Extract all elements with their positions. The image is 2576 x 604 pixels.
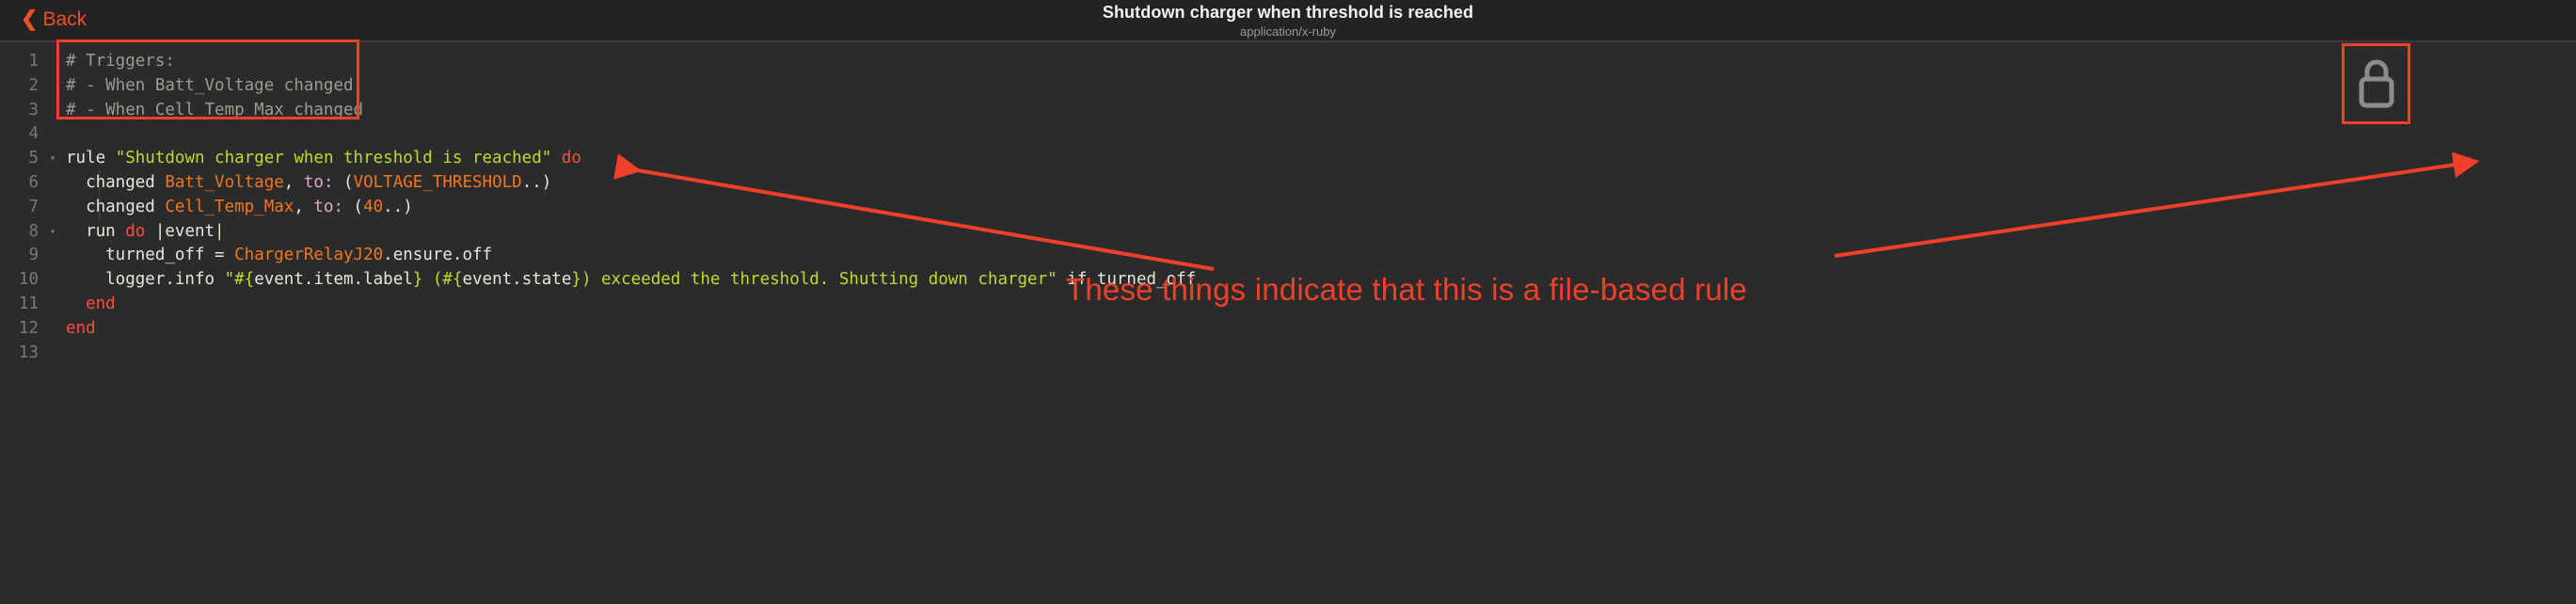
- token-kw: do: [125, 222, 145, 241]
- fold-toggle-icon[interactable]: ▾: [45, 220, 60, 245]
- code-line[interactable]: 12end: [0, 317, 2576, 342]
- token-string: (: [422, 270, 442, 289]
- code-line[interactable]: 13: [0, 342, 2576, 366]
- fold-toggle-icon[interactable]: ▾: [45, 147, 60, 171]
- token-interp: #{: [234, 270, 254, 289]
- token-const: ChargerRelayJ20: [234, 246, 383, 264]
- line-number: 8: [0, 220, 45, 245]
- code-line[interactable]: 6 changed Batt_Voltage, to: (VOLTAGE_THR…: [0, 171, 2576, 196]
- line-number: 11: [0, 293, 45, 317]
- code-line-text: changed Batt_Voltage, to: (VOLTAGE_THRES…: [66, 171, 551, 196]
- token-plain: ..): [522, 173, 552, 192]
- token-plain: changed: [66, 173, 165, 192]
- line-number: 7: [0, 196, 45, 220]
- line-number: 6: [0, 171, 45, 196]
- back-button-label: Back: [42, 8, 87, 31]
- token-sym: to:: [304, 173, 334, 192]
- token-kw: do: [562, 149, 581, 167]
- chevron-left-icon: ❮: [21, 8, 38, 29]
- token-plain: [551, 149, 562, 167]
- token-const: VOLTAGE_THRESHOLD: [354, 173, 522, 192]
- line-number: 4: [0, 122, 45, 147]
- token-interp: }: [413, 270, 423, 289]
- code-line-text: # - When Batt_Voltage changed: [66, 74, 354, 99]
- code-line[interactable]: 1# Triggers:: [0, 50, 2576, 74]
- token-comment: # - When Cell_Temp_Max changed: [66, 101, 363, 119]
- back-button[interactable]: ❮ Back: [21, 8, 87, 31]
- token-plain: changed: [66, 198, 165, 216]
- token-interp: }: [571, 270, 581, 289]
- code-line[interactable]: 2# - When Batt_Voltage changed: [0, 74, 2576, 99]
- line-number: 9: [0, 244, 45, 268]
- line-number: 10: [0, 268, 45, 293]
- token-plain: event.state: [462, 270, 571, 289]
- token-plain: if turned_off: [1057, 270, 1197, 289]
- line-number: 1: [0, 50, 45, 74]
- code-line[interactable]: 5▾rule "Shutdown charger when threshold …: [0, 147, 2576, 171]
- code-editor[interactable]: 1# Triggers:2# - When Batt_Voltage chang…: [0, 41, 2576, 604]
- code-line-text: turned_off = ChargerRelayJ20.ensure.off: [66, 244, 492, 268]
- code-line-text: rule "Shutdown charger when threshold is…: [66, 147, 581, 171]
- token-plain: logger.info: [66, 270, 225, 289]
- token-comment: # Triggers:: [66, 52, 175, 71]
- code-line[interactable]: 11 end: [0, 293, 2576, 317]
- token-string: ) exceeded the threshold. Shutting down …: [581, 270, 1057, 289]
- code-line-text: end: [66, 293, 116, 317]
- code-line-text: changed Cell_Temp_Max, to: (40..): [66, 196, 413, 220]
- token-plain: ..): [383, 198, 413, 216]
- line-number: 5: [0, 147, 45, 171]
- token-const: Cell_Temp_Max: [165, 198, 294, 216]
- line-number: 3: [0, 99, 45, 123]
- token-sym: to:: [313, 198, 343, 216]
- code-line-text: run do |event|: [66, 220, 225, 245]
- code-line-text: # Triggers:: [66, 50, 175, 74]
- code-line[interactable]: 3# - When Cell_Temp_Max changed: [0, 99, 2576, 123]
- token-plain: ,: [294, 198, 313, 216]
- code-line[interactable]: 8▾ run do |event|: [0, 220, 2576, 245]
- token-comment: # - When Batt_Voltage changed: [66, 76, 354, 95]
- line-number: 13: [0, 342, 45, 366]
- token-string: "Shutdown charger when threshold is reac…: [116, 149, 552, 167]
- token-kw: end: [66, 294, 116, 313]
- code-line-text: logger.info "#{event.item.label} (#{even…: [66, 268, 1196, 293]
- header-title-group: Shutdown charger when threshold is reach…: [0, 3, 2576, 40]
- token-plain: (: [333, 173, 353, 192]
- token-plain: ,: [284, 173, 304, 192]
- token-const: Batt_Voltage: [165, 173, 283, 192]
- code-line[interactable]: 4: [0, 122, 2576, 147]
- page-subtitle-mimetype: application/x-ruby: [0, 24, 2576, 40]
- page-title: Shutdown charger when threshold is reach…: [0, 3, 2576, 23]
- line-number: 2: [0, 74, 45, 99]
- token-plain: turned_off =: [66, 246, 234, 264]
- token-num: 40: [363, 198, 383, 216]
- token-kw: end: [66, 319, 96, 338]
- code-area[interactable]: 1# Triggers:2# - When Batt_Voltage chang…: [0, 42, 2576, 365]
- token-plain: .ensure.off: [383, 246, 492, 264]
- token-plain: |event|: [145, 222, 224, 241]
- code-line[interactable]: 7 changed Cell_Temp_Max, to: (40..): [0, 196, 2576, 220]
- token-plain: run: [66, 222, 125, 241]
- code-line-text: # - When Cell_Temp_Max changed: [66, 99, 363, 123]
- code-line[interactable]: 10 logger.info "#{event.item.label} (#{e…: [0, 268, 2576, 293]
- line-number: 12: [0, 317, 45, 342]
- code-line-text: end: [66, 317, 96, 342]
- token-string: ": [225, 270, 235, 289]
- token-plain: (: [343, 198, 363, 216]
- token-plain: event.item.label: [254, 270, 413, 289]
- page-header: ❮ Back Shutdown charger when threshold i…: [0, 0, 2576, 41]
- code-line[interactable]: 9 turned_off = ChargerRelayJ20.ensure.of…: [0, 244, 2576, 268]
- token-interp: #{: [442, 270, 462, 289]
- token-plain: rule: [66, 149, 116, 167]
